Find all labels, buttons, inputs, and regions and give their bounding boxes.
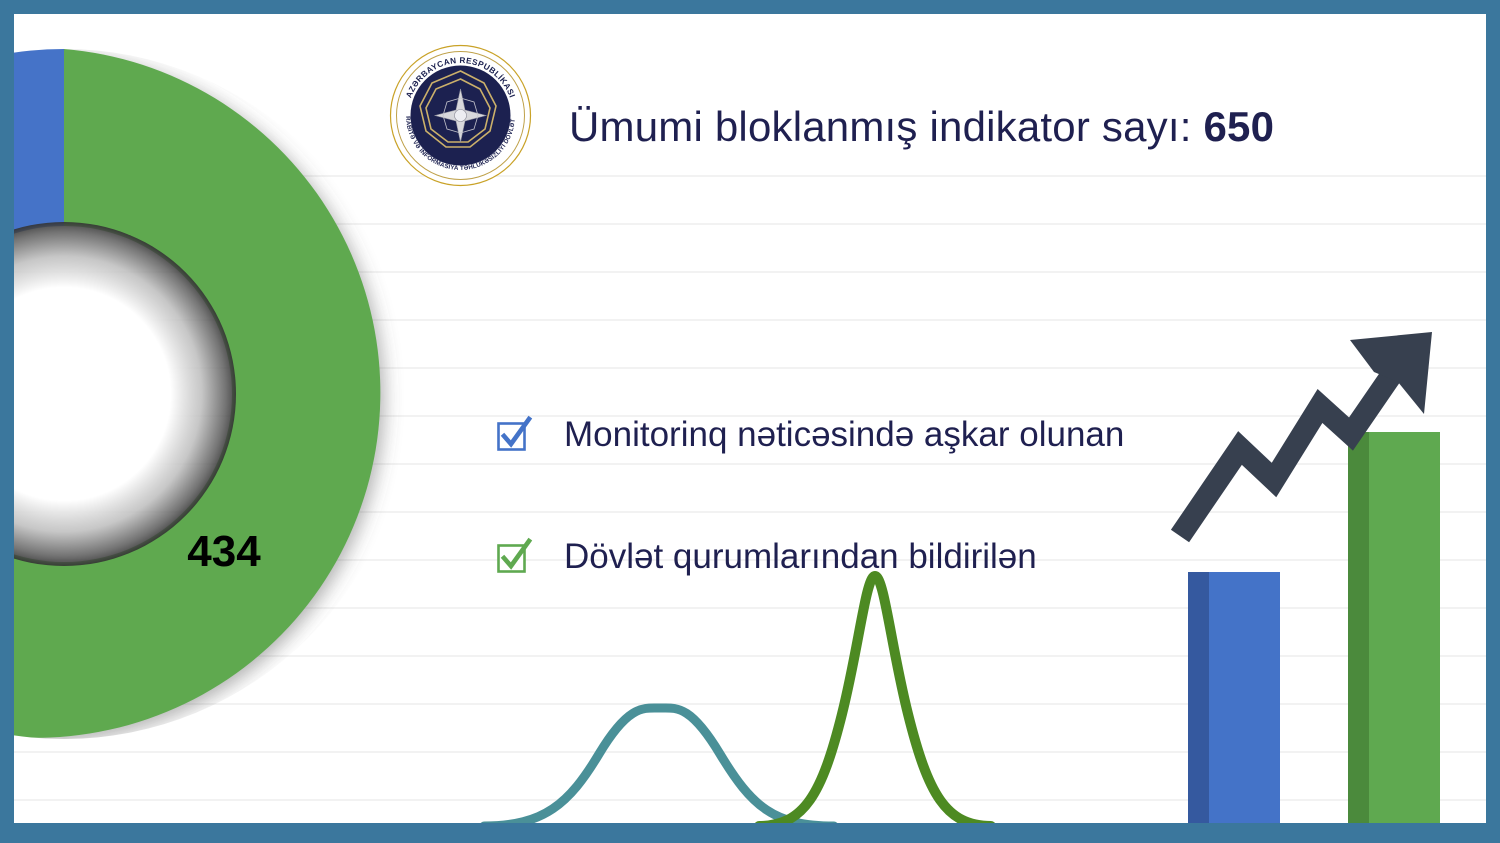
page-title-count: 650 xyxy=(1203,103,1274,150)
legend: Monitorinq nəticəsində aşkar olunan Dövl… xyxy=(496,404,1124,588)
bell-curve-teal xyxy=(484,708,834,823)
legend-item-state-agencies[interactable]: Dövlət qurumlarından bildirilən xyxy=(496,526,1124,588)
page-title-prefix: Ümumi bloklanmış indikator sayı: xyxy=(569,103,1203,150)
legend-item-label: Monitorinq nəticəsində aşkar olunan xyxy=(564,415,1124,455)
slide-root: 216 434 xyxy=(0,0,1500,843)
legend-item-label: Dövlət qurumlarından bildirilən xyxy=(564,537,1037,577)
donut-chart: 216 434 xyxy=(14,14,404,823)
frame-border-top xyxy=(0,0,1500,14)
legend-item-monitoring[interactable]: Monitorinq nəticəsində aşkar olunan xyxy=(496,404,1124,466)
slide-canvas: 216 434 xyxy=(14,14,1486,823)
upward-trend-arrow-icon xyxy=(1174,330,1434,550)
frame-border-left xyxy=(0,0,14,843)
frame-border-bottom xyxy=(0,823,1500,843)
checkbox-checked-icon-blue[interactable] xyxy=(496,418,530,452)
donut-slice-label-green: 434 xyxy=(187,527,261,576)
checkbox-checked-icon-green[interactable] xyxy=(496,540,530,574)
bell-curve-green xyxy=(759,576,991,823)
bar-blue xyxy=(1188,572,1280,823)
bar-blue-edge xyxy=(1188,572,1209,823)
page-title: Ümumi bloklanmış indikator sayı: 650 xyxy=(569,103,1274,151)
organization-emblem: AZƏRBAYCAN RESPUBLİKASI XÜSUSİ RABİTƏ VƏ… xyxy=(388,43,533,188)
frame-border-right xyxy=(1486,0,1500,843)
